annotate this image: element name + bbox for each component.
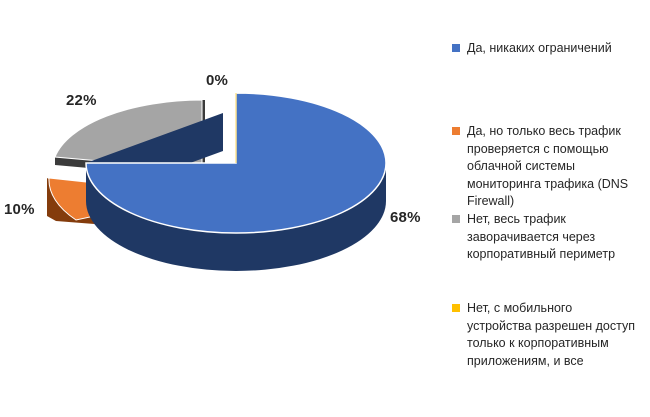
pie-chart-graphic <box>0 0 430 417</box>
legend-item-0[interactable]: Да, никаких ограничений <box>452 40 638 58</box>
legend-item-2[interactable]: Нет, весь трафик заворачивается через ко… <box>452 211 638 264</box>
chart-plot-area: 0% 22% 10% 68% <box>0 0 430 417</box>
legend-item-3[interactable]: Нет, с мобильного устройства разрешен до… <box>452 300 638 370</box>
chart-legend: Да, никаких ограничений Да, но только ве… <box>452 34 638 384</box>
data-label-gold: 0% <box>206 72 228 89</box>
legend-marker-gold-icon <box>452 304 460 312</box>
legend-marker-gray-icon <box>452 215 460 223</box>
legend-label-1: Да, но только весь трафик проверяется с … <box>467 123 638 211</box>
legend-label-2: Нет, весь трафик заворачивается через ко… <box>467 211 638 264</box>
legend-label-0: Да, никаких ограничений <box>467 40 612 58</box>
legend-item-1[interactable]: Да, но только весь трафик проверяется с … <box>452 123 638 211</box>
legend-marker-blue-icon <box>452 44 460 52</box>
data-label-gray: 22% <box>66 92 97 109</box>
pie-chart-page: 0% 22% 10% 68% Да, никаких ограничений Д… <box>0 0 650 417</box>
data-label-blue: 68% <box>390 209 421 226</box>
data-label-orange: 10% <box>4 201 35 218</box>
legend-label-3: Нет, с мобильного устройства разрешен до… <box>467 300 638 370</box>
legend-marker-orange-icon <box>452 127 460 135</box>
